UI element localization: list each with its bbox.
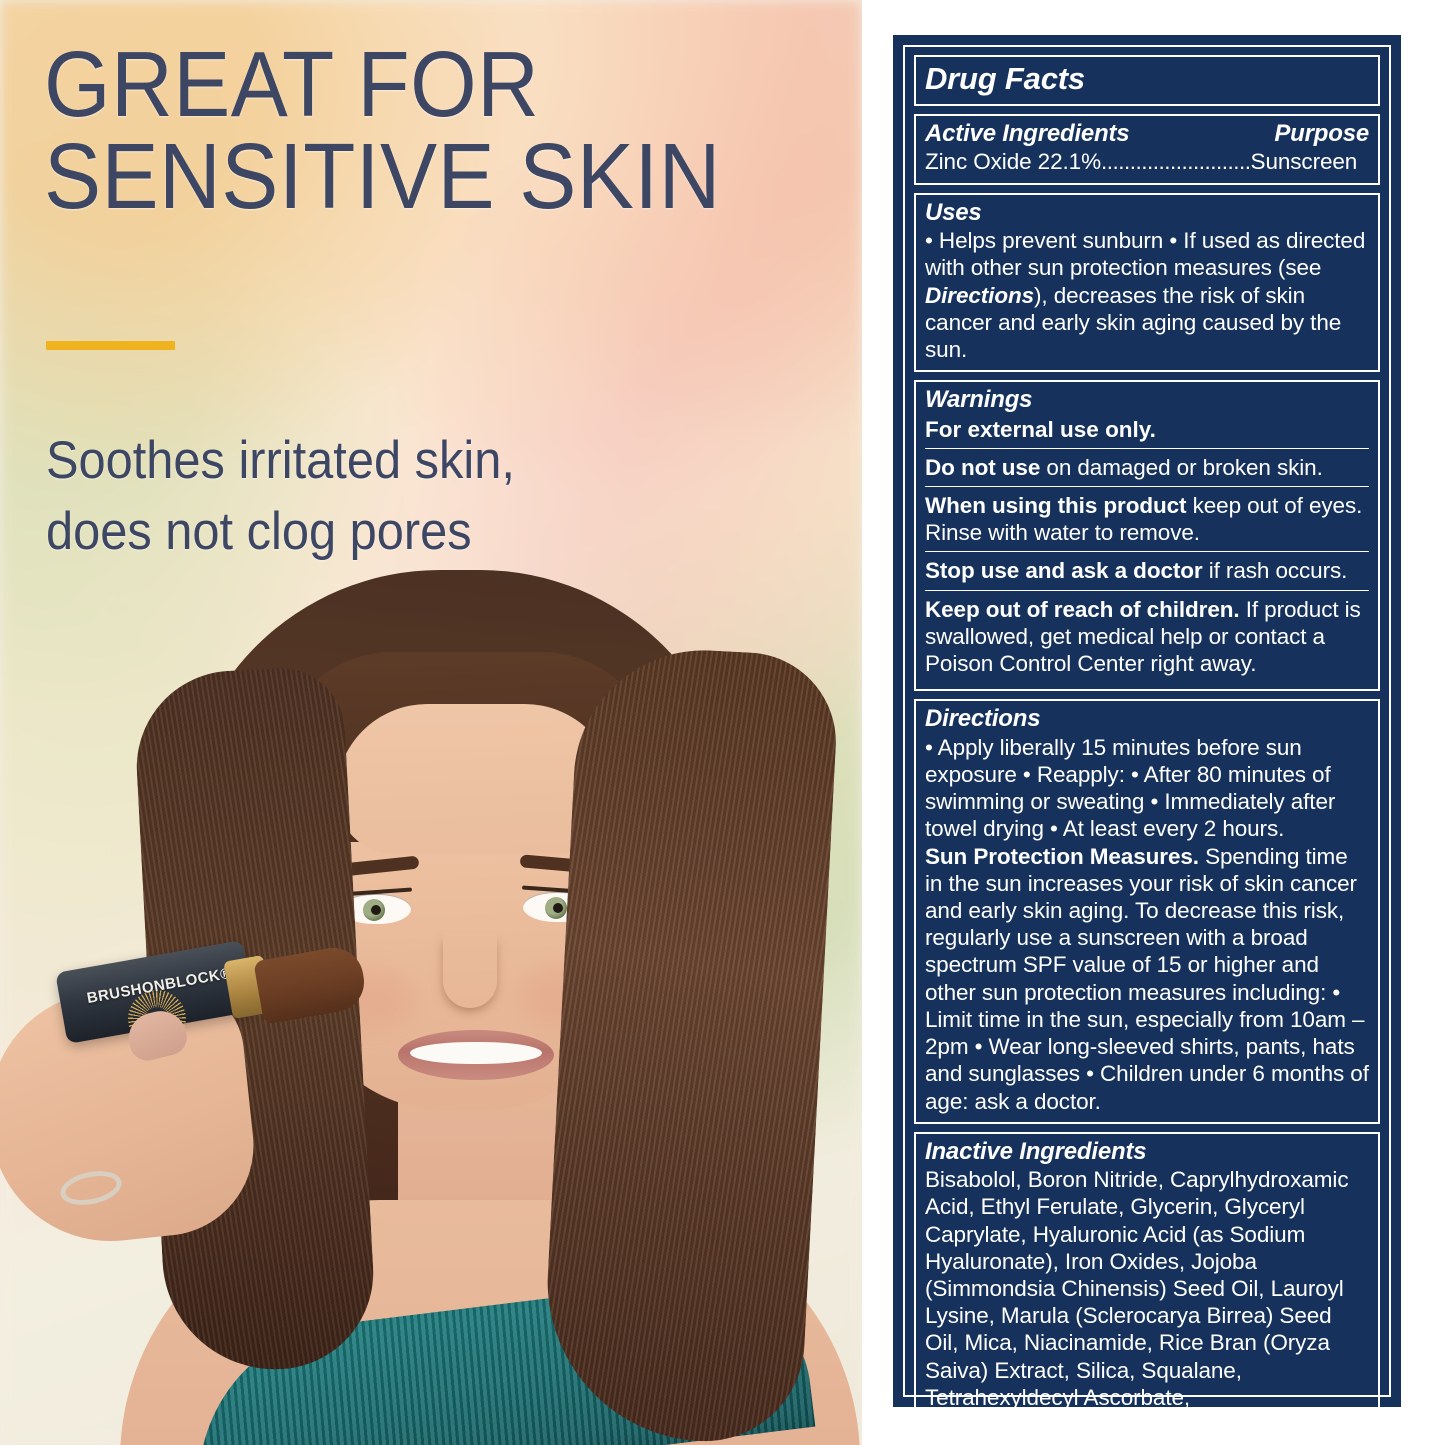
warning-item: Keep out of reach of children. If produc… — [925, 590, 1369, 683]
drug-facts-title-block: Drug Facts — [914, 55, 1380, 106]
nose — [443, 932, 497, 1008]
active-ingredients-heading: Active Ingredients — [925, 121, 1129, 147]
mouth — [398, 1030, 554, 1080]
directions-heading: Directions — [925, 706, 1369, 732]
warnings-heading: Warnings — [925, 387, 1369, 413]
warnings-block: Warnings For external use only. Do not u… — [914, 380, 1380, 691]
directions-text: • Apply liberally 15 minutes before sun … — [925, 734, 1369, 1115]
warning-item-lead: Do not use — [925, 455, 1040, 480]
headline-line-2: SENSITIVE SKIN — [44, 130, 771, 222]
warning-item: Stop use and ask a doctor if rash occurs… — [925, 551, 1369, 589]
warning-item-rest: if rash occurs. — [1203, 558, 1348, 583]
leader-dots: .......................... — [1101, 149, 1251, 174]
uses-directions-reference: Directions — [925, 283, 1034, 308]
purpose-heading: Purpose — [1274, 121, 1369, 147]
inactive-ingredients-heading: Inactive Ingredients — [925, 1139, 1369, 1165]
hair-right — [540, 644, 841, 1445]
teeth — [410, 1042, 542, 1064]
accent-rule — [46, 341, 175, 350]
headline-line-1: GREAT FOR — [44, 38, 771, 130]
pupil-right — [553, 903, 563, 913]
warning-item-lead: When using this product — [925, 493, 1186, 518]
product-lifestyle-photo: BRUSHONBLOCK® GREAT FOR SENSITIVE SKIN S… — [0, 0, 862, 1445]
warning-external-use: For external use only. — [925, 415, 1369, 448]
active-ingredient-row: Zinc Oxide 22.1%........................… — [925, 148, 1369, 175]
drug-facts-title: Drug Facts — [925, 62, 1369, 96]
warning-item-lead: Stop use and ask a doctor — [925, 558, 1203, 583]
pupil-left — [371, 905, 381, 915]
subheadline: Soothes irritated skin, does not clog po… — [46, 425, 745, 567]
active-ingredients-block: Active Ingredients Purpose Zinc Oxide 22… — [914, 114, 1380, 185]
directions-block: Directions • Apply liberally 15 minutes … — [914, 699, 1380, 1123]
uses-heading: Uses — [925, 200, 1369, 226]
uses-text-a: • Helps prevent sunburn • If used as dir… — [925, 228, 1365, 280]
subheadline-line-1: Soothes irritated skin, — [46, 425, 745, 496]
warning-item-rest: on damaged or broken skin. — [1040, 455, 1322, 480]
active-ingredient-name: Zinc Oxide 22.1% — [925, 149, 1101, 174]
uses-block: Uses • Helps prevent sunburn • If used a… — [914, 193, 1380, 372]
uses-text: • Helps prevent sunburn • If used as dir… — [925, 227, 1369, 363]
warning-item: Do not use on damaged or broken skin. — [925, 448, 1369, 486]
model-figure: BRUSHONBLOCK® — [0, 560, 862, 1445]
sun-protection-measures-lead: Sun Protection Measures. — [925, 844, 1199, 869]
active-ingredient-purpose: Sunscreen — [1251, 149, 1358, 174]
directions-text-a: • Apply liberally 15 minutes before sun … — [925, 735, 1335, 842]
inactive-ingredients-block: Inactive Ingredients Bisabolol, Boron Ni… — [914, 1132, 1380, 1445]
warning-item: When using this product keep out of eyes… — [925, 486, 1369, 551]
inactive-ingredients-text: Bisabolol, Boron Nitride, Caprylhydroxam… — [925, 1166, 1369, 1438]
directions-text-b: Spending time in the sun increases your … — [925, 844, 1369, 1114]
subheadline-line-2: does not clog pores — [46, 496, 745, 567]
marketing-image: BRUSHONBLOCK® GREAT FOR SENSITIVE SKIN S… — [0, 0, 1445, 1445]
warning-item-lead: Keep out of reach of children. — [925, 597, 1240, 622]
drug-facts-panel: Drug Facts Active Ingredients Purpose Zi… — [893, 35, 1401, 1407]
headline: GREAT FOR SENSITIVE SKIN — [44, 38, 771, 222]
